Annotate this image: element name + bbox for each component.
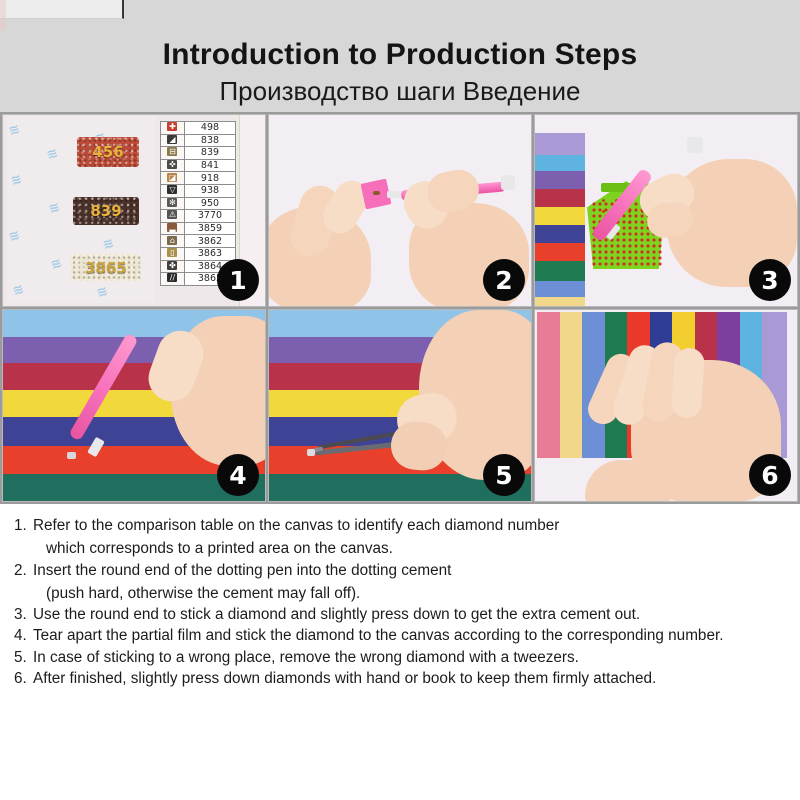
color-table-symbol: ✤ [161, 260, 185, 273]
instruction-item: 5.In case of sticking to a wrong place, … [14, 650, 786, 665]
color-table-row: ▽938 [161, 184, 236, 197]
instruction-line: After finished, slightly press down diam… [33, 671, 786, 686]
color-table-row: ⌂3862 [161, 235, 236, 248]
color-table-symbol: ▯ [161, 247, 185, 260]
page-title-en: Introduction to Production Steps [0, 38, 800, 72]
step-badge-6: 6 [749, 454, 791, 496]
instruction-item: 3.Use the round end to stick a diamond a… [14, 607, 786, 622]
symbol-glyph-icon: ▯ [167, 248, 177, 257]
picked-diamond [67, 452, 76, 459]
color-table-number: 3862 [184, 235, 235, 248]
instruction-line: Use the round end to stick a diamond and… [33, 607, 786, 622]
color-table-row: ◢838 [161, 134, 236, 147]
instruction-line: Tear apart the partial film and stick th… [33, 628, 786, 643]
instruction-body: Refer to the comparison table on the can… [33, 518, 786, 557]
symbol-glyph-icon: // [167, 273, 177, 282]
step-panel-6[interactable]: 6 [534, 309, 798, 502]
instruction-number: 5. [14, 650, 33, 665]
color-table-number: 838 [184, 134, 235, 147]
color-table-row: ▯3863 [161, 247, 236, 260]
color-table-number: 498 [184, 122, 235, 135]
instruction-item: 4.Tear apart the partial film and stick … [14, 628, 786, 643]
pen-cap [687, 137, 703, 153]
color-table-row: ✻950 [161, 197, 236, 210]
symbol-glyph-icon: ⌂ [167, 236, 177, 245]
color-table-number: 938 [184, 184, 235, 197]
color-table-row: ◪918 [161, 172, 236, 185]
color-table-symbol: ◪ [161, 172, 185, 185]
symbol-glyph-icon: ⊟ [167, 147, 177, 156]
color-table-row: ▂3859 [161, 222, 236, 235]
step-badge-4: 4 [217, 454, 259, 496]
instruction-line: (push hard, otherwise the cement may fal… [33, 586, 786, 601]
color-table-number: 841 [184, 159, 235, 172]
step-panel-4[interactable]: 4 [2, 309, 266, 502]
instructions-list: 1.Refer to the comparison table on the c… [0, 504, 800, 800]
color-table-row: ✚498 [161, 122, 236, 135]
symbol-glyph-icon: ⚠ [167, 210, 177, 219]
instruction-body: Insert the round end of the dotting pen … [33, 563, 786, 602]
color-table-symbol: ✚ [161, 122, 185, 135]
diamond-bag: 3865 [71, 254, 141, 281]
step-badge-5: 5 [483, 454, 525, 496]
diamond-bag-label: 3865 [85, 259, 127, 277]
color-comparison-table: ✚498◢838⊟839✜841◪918▽938✻950⚠3770▂3859⌂3… [160, 121, 236, 286]
diamond-bag: 456 [77, 137, 139, 167]
color-table-symbol: ⚠ [161, 210, 185, 223]
color-table-symbol: ▽ [161, 184, 185, 197]
instruction-item: 1.Refer to the comparison table on the c… [14, 518, 786, 557]
instruction-line: In case of sticking to a wrong place, re… [33, 650, 786, 665]
diamond-film-sheet: ≋ ≋ ≋ ≋ ≋ ≋ ≋ ≋ ≋ ≋ 456 839 3865 [7, 117, 155, 303]
step-panel-1[interactable]: ≋ ≋ ≋ ≋ ≋ ≋ ≋ ≋ ≋ ≋ 456 839 3865 ✚498◢83… [2, 114, 266, 307]
page-title-ru: Производство шаги Введение [0, 76, 800, 107]
color-table-symbol: ⌂ [161, 235, 185, 248]
removed-diamond [307, 449, 315, 456]
pen-cap [501, 175, 515, 190]
step-panel-2[interactable]: 2 [268, 114, 532, 307]
instruction-body: Tear apart the partial film and stick th… [33, 628, 786, 643]
color-table-number: 3770 [184, 210, 235, 223]
color-table-symbol: ▂ [161, 222, 185, 235]
symbol-glyph-icon: ✜ [167, 160, 177, 169]
symbol-glyph-icon: ✚ [167, 122, 177, 131]
symbol-glyph-icon: ✻ [167, 198, 177, 207]
color-table-number: 950 [184, 197, 235, 210]
step-panel-3[interactable]: 3 [534, 114, 798, 307]
color-table-number: 918 [184, 172, 235, 185]
striped-canvas-small [535, 133, 585, 307]
symbol-glyph-icon: ✤ [167, 261, 177, 270]
color-table-symbol: // [161, 273, 185, 286]
symbol-glyph-icon: ◪ [167, 173, 177, 182]
instruction-line: Insert the round end of the dotting pen … [33, 563, 786, 578]
instruction-number: 4. [14, 628, 33, 643]
step-badge-3: 3 [749, 259, 791, 301]
top-left-artifact-secondary [0, 0, 6, 30]
top-left-artifact [0, 0, 124, 19]
color-table-symbol: ✜ [161, 159, 185, 172]
diamond-bag: 839 [73, 197, 139, 225]
step-badge-2: 2 [483, 259, 525, 301]
instruction-item: 6.After finished, slightly press down di… [14, 671, 786, 686]
instruction-body: After finished, slightly press down diam… [33, 671, 786, 686]
step-panel-5[interactable]: 5 [268, 309, 532, 502]
color-table-number: 3859 [184, 222, 235, 235]
color-table-symbol: ✻ [161, 197, 185, 210]
symbol-glyph-icon: ▽ [167, 185, 177, 194]
step-panel-grid: ≋ ≋ ≋ ≋ ≋ ≋ ≋ ≋ ≋ ≋ 456 839 3865 ✚498◢83… [0, 112, 800, 504]
cement-hole [373, 191, 380, 195]
color-table-row: ⊟839 [161, 147, 236, 160]
instruction-line: Refer to the comparison table on the can… [33, 518, 786, 533]
diamond-bag-label: 839 [90, 202, 121, 220]
symbol-glyph-icon: ▂ [167, 223, 177, 232]
step-badge-1: 1 [217, 259, 259, 301]
color-comparison-table-body: ✚498◢838⊟839✜841◪918▽938✻950⚠3770▂3859⌂3… [161, 122, 236, 286]
diamond-bag-label: 456 [92, 143, 123, 161]
instruction-body: In case of sticking to a wrong place, re… [33, 650, 786, 665]
page-header: Introduction to Production Steps Произво… [0, 0, 800, 112]
color-table-symbol: ◢ [161, 134, 185, 147]
color-table-number: 3863 [184, 247, 235, 260]
instruction-body: Use the round end to stick a diamond and… [33, 607, 786, 622]
color-table-symbol: ⊟ [161, 147, 185, 160]
color-table-number: 839 [184, 147, 235, 160]
hand-finger [671, 347, 706, 419]
instruction-item: 2.Insert the round end of the dotting pe… [14, 563, 786, 602]
instruction-number: 3. [14, 607, 33, 622]
instruction-number: 1. [14, 518, 33, 533]
symbol-glyph-icon: ◢ [167, 135, 177, 144]
color-table-row: ⚠3770 [161, 210, 236, 223]
instruction-number: 6. [14, 671, 33, 686]
color-table-row: ✜841 [161, 159, 236, 172]
instruction-line: which corresponds to a printed area on t… [33, 541, 786, 556]
instructions-container: 1.Refer to the comparison table on the c… [14, 518, 786, 686]
instruction-number: 2. [14, 563, 33, 578]
